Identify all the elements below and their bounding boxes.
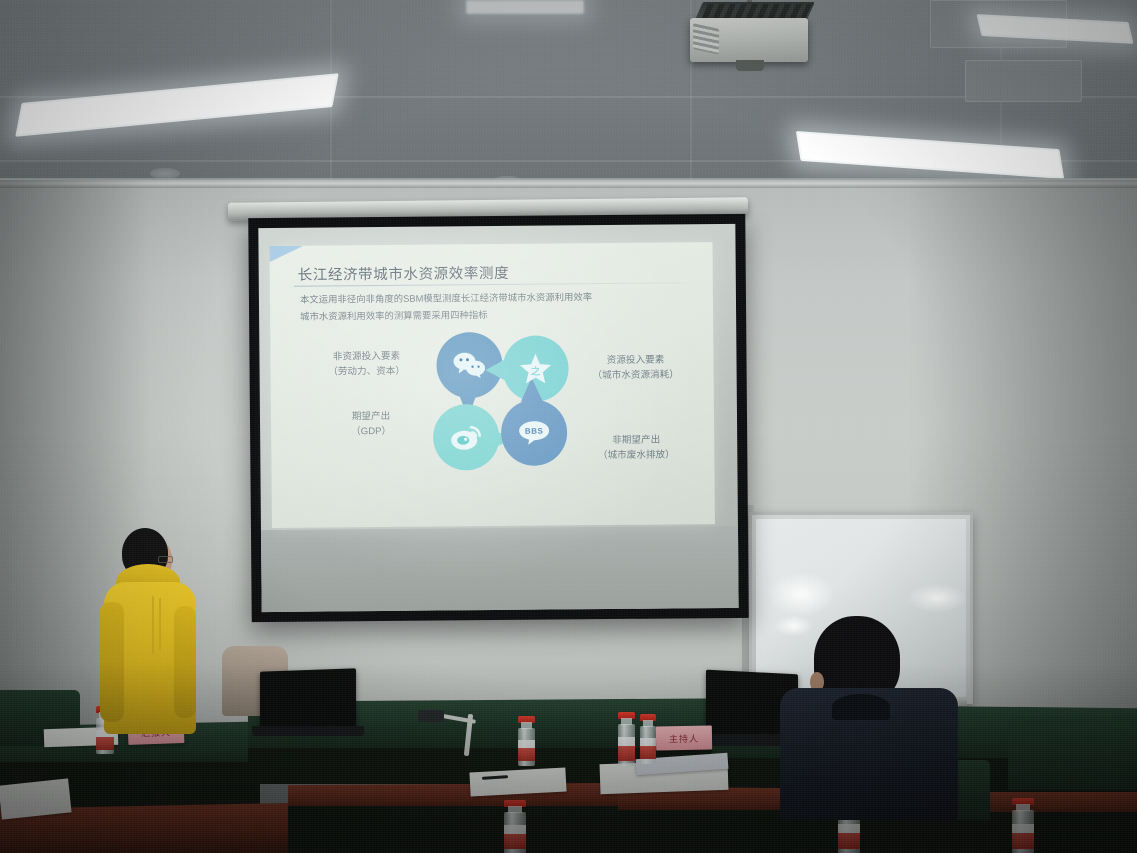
qq-star-icon: 之 bbox=[518, 352, 552, 385]
slide-body: 本文运用非径向非角度的SBM模型测度长江经济带城市水资源利用效率 城市水资源利用… bbox=[300, 287, 700, 324]
person-presenter-standing bbox=[96, 524, 206, 734]
label-undesirable-output: 非期望产出 （城市废水排放） bbox=[571, 432, 701, 463]
paper-sheet bbox=[469, 768, 566, 797]
name-placard-host: 主持人 bbox=[656, 726, 712, 751]
whiteboard-glare bbox=[766, 571, 836, 617]
presenter-glasses bbox=[158, 556, 173, 563]
slide-bubble-cluster: 之 bbox=[430, 329, 581, 475]
label-desirable-output: 期望产出 （GDP） bbox=[319, 409, 423, 440]
ceiling-vent bbox=[965, 60, 1082, 102]
presenter-arm-left bbox=[100, 602, 124, 722]
label-main: 资源投入要素 bbox=[607, 355, 665, 367]
projector-bracket bbox=[736, 60, 764, 71]
chair-back-right bbox=[1008, 716, 1137, 790]
presenter-arm-right bbox=[174, 606, 196, 718]
person-seated-attendee bbox=[780, 616, 960, 816]
presentation-slide: 长江经济带城市水资源效率测度 本文运用非径向非角度的SBM模型测度长江经济带城市… bbox=[269, 242, 714, 528]
whiteboard-glare bbox=[906, 583, 968, 613]
presenter-hood-string bbox=[152, 596, 154, 654]
laptop-left-base bbox=[252, 726, 364, 736]
bbs-label: BBS bbox=[525, 426, 543, 435]
projection-screen-lower-band bbox=[261, 526, 739, 612]
label-sub: （城市水资源消耗） bbox=[571, 367, 701, 383]
slide-accent-triangle-icon bbox=[269, 246, 303, 262]
projection-screen: 长江经济带城市水资源效率测度 本文运用非径向非角度的SBM模型测度长江经济带城市… bbox=[248, 214, 749, 622]
laptop-left-screen bbox=[260, 668, 356, 729]
label-main: 非资源投入要素 bbox=[333, 351, 400, 363]
label-main: 非期望产出 bbox=[612, 435, 660, 446]
bubble-bbs: BBS bbox=[501, 399, 568, 466]
label-sub: （城市废水排放） bbox=[571, 447, 701, 463]
attendee-collar bbox=[832, 694, 890, 720]
water-bottle bbox=[518, 716, 535, 766]
label-sub: （GDP） bbox=[319, 424, 423, 440]
water-bottle bbox=[640, 714, 656, 764]
water-bottle bbox=[504, 800, 526, 853]
presenter-hood-string bbox=[159, 598, 161, 650]
weibo-icon bbox=[449, 423, 483, 451]
label-non-resource-input: 非资源投入要素 （劳动力、资本） bbox=[306, 349, 426, 380]
projector-vents bbox=[693, 23, 719, 55]
label-main: 期望产出 bbox=[352, 411, 390, 422]
foreground-table-center-panel bbox=[288, 806, 628, 853]
placard-text: 主持人 bbox=[669, 731, 699, 745]
bubble-weibo bbox=[433, 404, 500, 471]
ceiling-light-panel bbox=[466, 0, 584, 14]
label-resource-input: 资源投入要素 （城市水资源消耗） bbox=[570, 352, 700, 383]
label-sub: （劳动力、资本） bbox=[307, 364, 427, 380]
adapter-box bbox=[418, 710, 444, 722]
bubble-tail bbox=[485, 358, 507, 382]
bbs-icon: BBS bbox=[517, 420, 551, 446]
svg-text:之: 之 bbox=[531, 364, 541, 377]
conference-room-photo: 长江经济带城市水资源效率测度 本文运用非径向非角度的SBM模型测度长江经济带城市… bbox=[0, 0, 1137, 853]
slide-body-line-2: 城市水资源利用效率的测算需要采用四种指标 bbox=[300, 304, 700, 324]
slide-title: 长江经济带城市水资源效率测度 bbox=[298, 262, 510, 285]
projector-body bbox=[690, 18, 808, 62]
water-bottle bbox=[1012, 798, 1034, 853]
wechat-icon bbox=[452, 352, 486, 378]
water-bottle bbox=[618, 712, 635, 766]
